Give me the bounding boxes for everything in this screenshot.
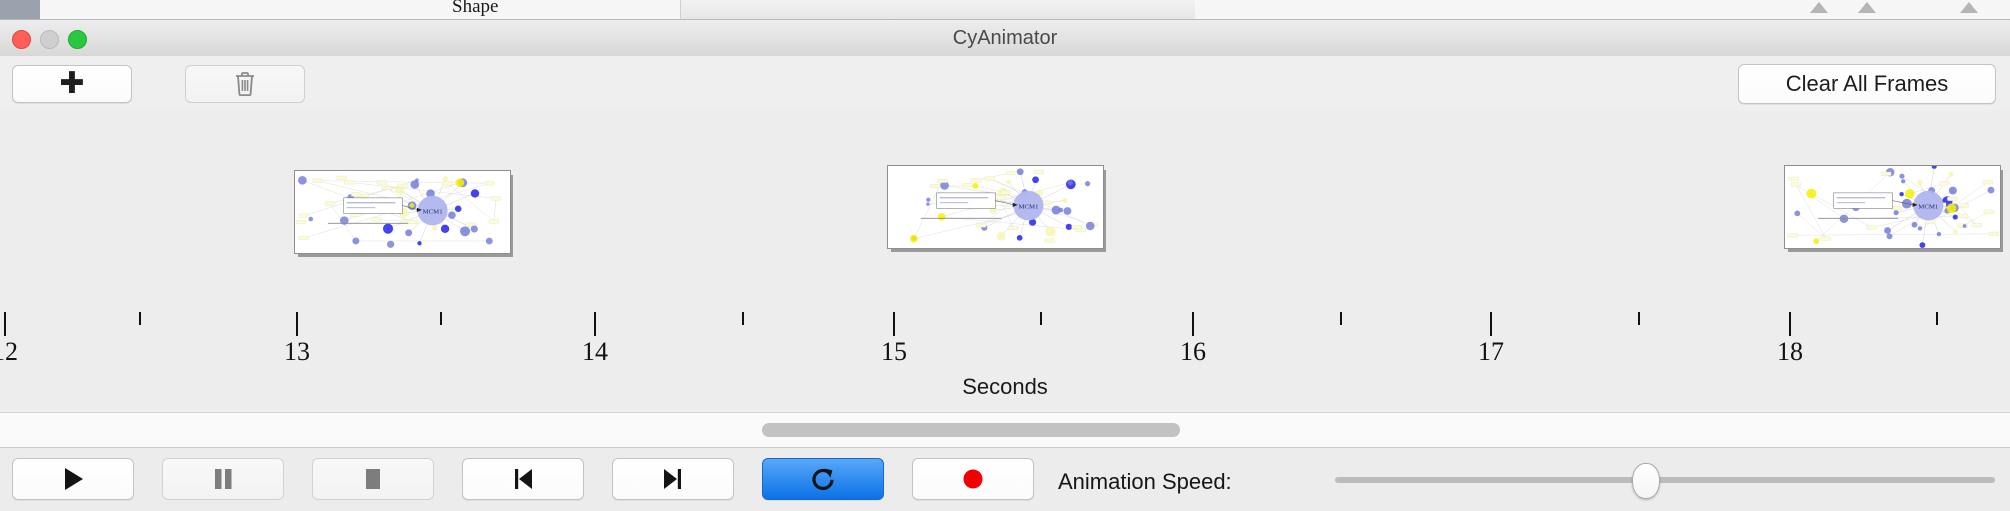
ruler-tick-label: 12	[0, 337, 18, 367]
ruler-tick-label: 13	[284, 337, 310, 367]
ruler-tick-major	[296, 312, 298, 336]
ruler-tick-minor	[440, 312, 442, 325]
animation-speed-slider[interactable]	[1335, 477, 1995, 483]
window-title: CyAnimator	[0, 27, 2010, 50]
animation-speed-slider-thumb[interactable]	[1632, 463, 1660, 499]
ruler-tick-minor	[1638, 312, 1640, 325]
skip-back-icon	[510, 465, 536, 493]
svg-text:MCM1: MCM1	[423, 208, 443, 215]
ruler-tick-label: 15	[881, 337, 907, 367]
ruler-tick-minor	[742, 312, 744, 325]
frame-preview: MCM1	[887, 165, 1104, 249]
frame-thumbnail[interactable]: MCM1	[1784, 165, 1999, 247]
frame-toolbar: ✚ Clear All Frames	[0, 56, 2010, 111]
timeline-scrollbar[interactable]	[0, 412, 2010, 448]
play-icon	[60, 465, 86, 493]
ruler-axis-title: Seconds	[0, 374, 2010, 400]
frame-preview: MCM1	[294, 170, 511, 254]
svg-text:MCM1: MCM1	[1918, 203, 1938, 210]
add-frame-button[interactable]: ✚	[12, 65, 132, 103]
ruler-tick-minor	[139, 312, 141, 325]
timeline-ruler: Seconds 12131415161718	[0, 312, 2010, 412]
ruler-tick-major	[1490, 312, 1492, 336]
ruler-tick-major	[893, 312, 895, 336]
record-icon	[959, 465, 987, 493]
cyanimator-window: Shape CyAnimator ✚ Clear All Frames	[0, 0, 2010, 510]
background-window-label: Shape	[452, 0, 498, 18]
ruler-tick-minor	[1040, 312, 1042, 325]
clear-all-frames-button[interactable]: Clear All Frames	[1738, 64, 1996, 104]
pause-button[interactable]	[162, 458, 284, 500]
scrollbar-thumb[interactable]	[762, 423, 1180, 437]
playback-toolbar: Animation Speed:	[0, 447, 2010, 511]
pause-icon	[211, 465, 235, 493]
play-button[interactable]	[12, 458, 134, 500]
skip-to-end-button[interactable]	[612, 458, 734, 500]
ruler-tick-major	[594, 312, 596, 336]
frame-thumbnail[interactable]: MCM1	[294, 170, 509, 252]
stop-icon	[361, 465, 385, 493]
ruler-tick-minor	[1340, 312, 1342, 325]
trash-icon	[234, 71, 256, 97]
ruler-tick-label: 14	[582, 337, 608, 367]
clear-all-frames-label: Clear All Frames	[1786, 71, 1949, 97]
frame-thumbnail[interactable]: MCM1	[887, 165, 1102, 247]
ruler-tick-major	[1789, 312, 1791, 336]
record-button[interactable]	[912, 458, 1034, 500]
loop-button[interactable]	[762, 458, 884, 500]
skip-forward-icon	[660, 465, 686, 493]
svg-text:MCM1: MCM1	[1018, 203, 1038, 210]
ruler-tick-label: 16	[1180, 337, 1206, 367]
stop-button[interactable]	[312, 458, 434, 500]
plus-icon: ✚	[59, 69, 84, 99]
ruler-tick-major	[1192, 312, 1194, 336]
loop-icon	[809, 465, 837, 493]
skip-to-start-button[interactable]	[462, 458, 584, 500]
title-bar: CyAnimator	[0, 20, 2010, 57]
ruler-tick-major	[4, 312, 6, 336]
background-window-strip: Shape	[0, 0, 2010, 20]
delete-frame-button[interactable]	[185, 65, 305, 103]
frame-preview: MCM1	[1784, 165, 2001, 249]
ruler-tick-label: 18	[1777, 337, 1803, 367]
ruler-tick-label: 17	[1478, 337, 1504, 367]
animation-speed-label: Animation Speed:	[1058, 469, 1232, 495]
ruler-tick-minor	[1936, 312, 1938, 325]
timeline-track[interactable]: MCM1 MCM1 MCM1	[0, 110, 2010, 314]
